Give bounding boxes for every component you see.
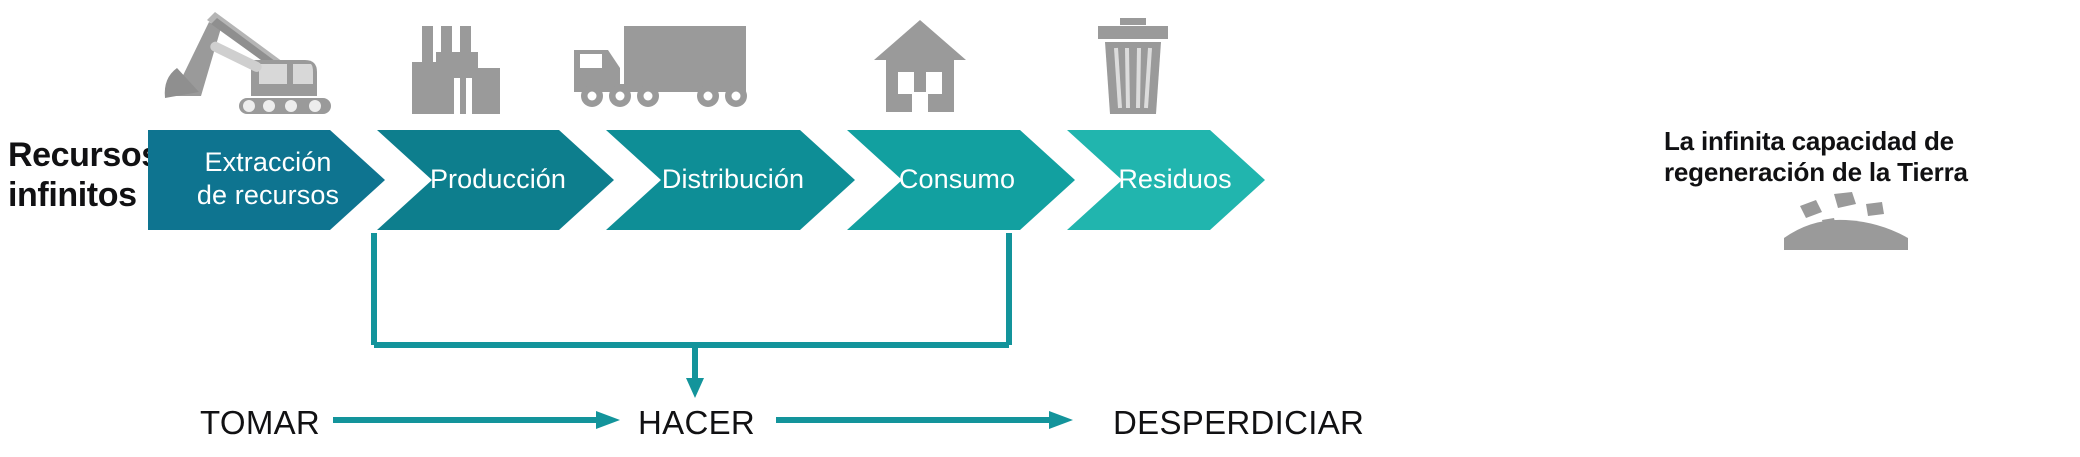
right-heading-line-2: regeneración de la Tierra: [1664, 157, 2076, 188]
chevron-distribucion: [606, 130, 855, 230]
chevron-residuos: [1067, 130, 1265, 230]
right-heading: La infinita capacidad de regeneración de…: [1664, 126, 2076, 189]
flow-label-hacer: HACER: [638, 404, 755, 442]
linear-economy-diagram: Recursos infinitos: [0, 0, 2080, 457]
bracket-connector: [374, 233, 1009, 398]
chevron-consumo: [847, 130, 1075, 230]
chevron-extraccion: [148, 130, 385, 230]
flow-label-desperdiciar: DESPERDICIAR: [1113, 404, 1364, 442]
process-chevron-band: Extracción de recursos Producción Distri…: [0, 0, 2080, 457]
flow-label-tomar: TOMAR: [200, 404, 320, 442]
right-heading-line-1: La infinita capacidad de: [1664, 126, 2076, 157]
chevron-produccion: [377, 130, 614, 230]
